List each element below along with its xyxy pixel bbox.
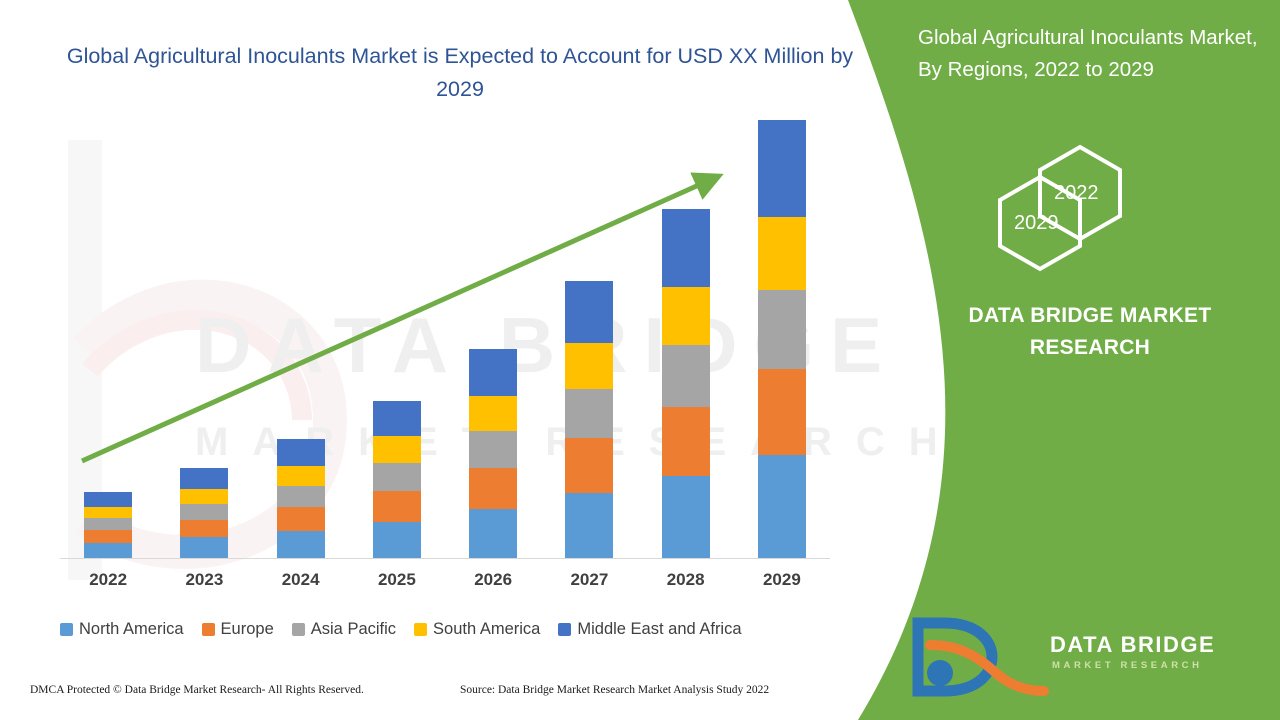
bar-segment <box>469 396 517 431</box>
legend-item: Europe <box>202 620 274 639</box>
bar-column <box>662 209 710 558</box>
x-axis-labels: 20222023202420252026202720282029 <box>60 570 830 596</box>
brand-line1: DATA BRIDGE MARKET <box>969 304 1212 327</box>
legend-item: North America <box>60 620 184 639</box>
legend-label: North America <box>79 620 184 639</box>
bar-segment <box>277 531 325 558</box>
bar-segment <box>662 287 710 345</box>
legend-swatch <box>60 623 73 636</box>
bar-segment <box>180 504 228 520</box>
hexagon-label-2029: 2029 <box>1014 212 1059 235</box>
bar-segment <box>180 468 228 489</box>
bar-segment <box>84 530 132 543</box>
bar-segment <box>662 345 710 408</box>
bar-segment <box>662 209 710 287</box>
bar-segment <box>565 438 613 492</box>
x-axis-label: 2027 <box>544 570 634 590</box>
bar-segment <box>373 436 421 462</box>
bar-segment <box>277 439 325 466</box>
bar-segment <box>662 407 710 475</box>
bar-segment <box>180 520 228 538</box>
bar-segment <box>758 217 806 290</box>
bar-segment <box>277 466 325 486</box>
legend-swatch <box>414 623 427 636</box>
hexagon-label-2022: 2022 <box>1054 182 1099 205</box>
bar-segment <box>565 343 613 389</box>
footer-source: Source: Data Bridge Market Research Mark… <box>460 684 769 696</box>
bar-segment <box>758 369 806 455</box>
x-axis-label: 2023 <box>159 570 249 590</box>
bar-segment <box>469 431 517 468</box>
legend-label: Middle East and Africa <box>577 620 741 639</box>
bar-segment <box>758 120 806 217</box>
bar-segment <box>469 468 517 509</box>
brand-line2: RESEARCH <box>1030 336 1150 359</box>
x-axis-label: 2029 <box>737 570 827 590</box>
legend-swatch <box>292 623 305 636</box>
bar-segment <box>758 455 806 558</box>
legend-swatch <box>202 623 215 636</box>
x-axis-line <box>60 558 830 559</box>
chart-legend: North AmericaEuropeAsia PacificSouth Ame… <box>60 616 850 642</box>
plot-area <box>60 120 830 558</box>
bar-column <box>565 281 613 558</box>
chart-panel: DATA BRIDGE MARKET RESEARCH Global Agric… <box>0 0 980 720</box>
legend-swatch <box>558 623 571 636</box>
stacked-bar-chart: 20222023202420252026202720282029 <box>0 0 900 720</box>
bar-segment <box>469 349 517 396</box>
bar-segment <box>277 486 325 508</box>
x-axis-label: 2026 <box>448 570 538 590</box>
x-axis-label: 2022 <box>63 570 153 590</box>
bar-segment <box>373 491 421 522</box>
bar-column <box>373 401 421 558</box>
bar-segment <box>662 476 710 558</box>
bar-segment <box>469 509 517 558</box>
x-axis-label: 2025 <box>352 570 442 590</box>
bar-segment <box>84 543 132 558</box>
bar-segment <box>277 507 325 530</box>
bar-column <box>469 349 517 558</box>
hexagon-group: 2022 2029 <box>985 140 1185 275</box>
legend-item: South America <box>414 620 540 639</box>
logo-subtitle: MARKET RESEARCH <box>1052 660 1203 671</box>
bar-segment <box>373 463 421 491</box>
logo-wordmark: DATA BRIDGE <box>1050 632 1215 658</box>
bar-segment <box>84 518 132 530</box>
bar-segment <box>373 522 421 559</box>
legend-item: Middle East and Africa <box>558 620 741 639</box>
bar-column <box>277 439 325 558</box>
bar-segment <box>758 290 806 369</box>
brand-name: DATA BRIDGE MARKET RESEARCH <box>910 300 1270 363</box>
panel-content: Global Agricultural Inoculants Market, B… <box>890 0 1280 720</box>
bar-segment <box>565 389 613 439</box>
legend-item: Asia Pacific <box>292 620 396 639</box>
bar-column <box>758 120 806 558</box>
bar-segment <box>373 401 421 437</box>
legend-label: Asia Pacific <box>311 620 396 639</box>
bar-column <box>84 492 132 558</box>
bar-segment <box>180 537 228 558</box>
bar-segment <box>565 281 613 343</box>
bar-segment <box>84 492 132 507</box>
bar-segment <box>180 489 228 504</box>
x-axis-label: 2028 <box>641 570 731 590</box>
panel-title: Global Agricultural Inoculants Market, B… <box>918 22 1263 86</box>
x-axis-label: 2024 <box>256 570 346 590</box>
footer-copyright: DMCA Protected © Data Bridge Market Rese… <box>30 684 364 696</box>
legend-label: South America <box>433 620 540 639</box>
bar-segment <box>565 493 613 559</box>
bar-segment <box>84 507 132 518</box>
hexagon-icons <box>985 140 1185 275</box>
legend-label: Europe <box>221 620 274 639</box>
bar-column <box>180 468 228 558</box>
